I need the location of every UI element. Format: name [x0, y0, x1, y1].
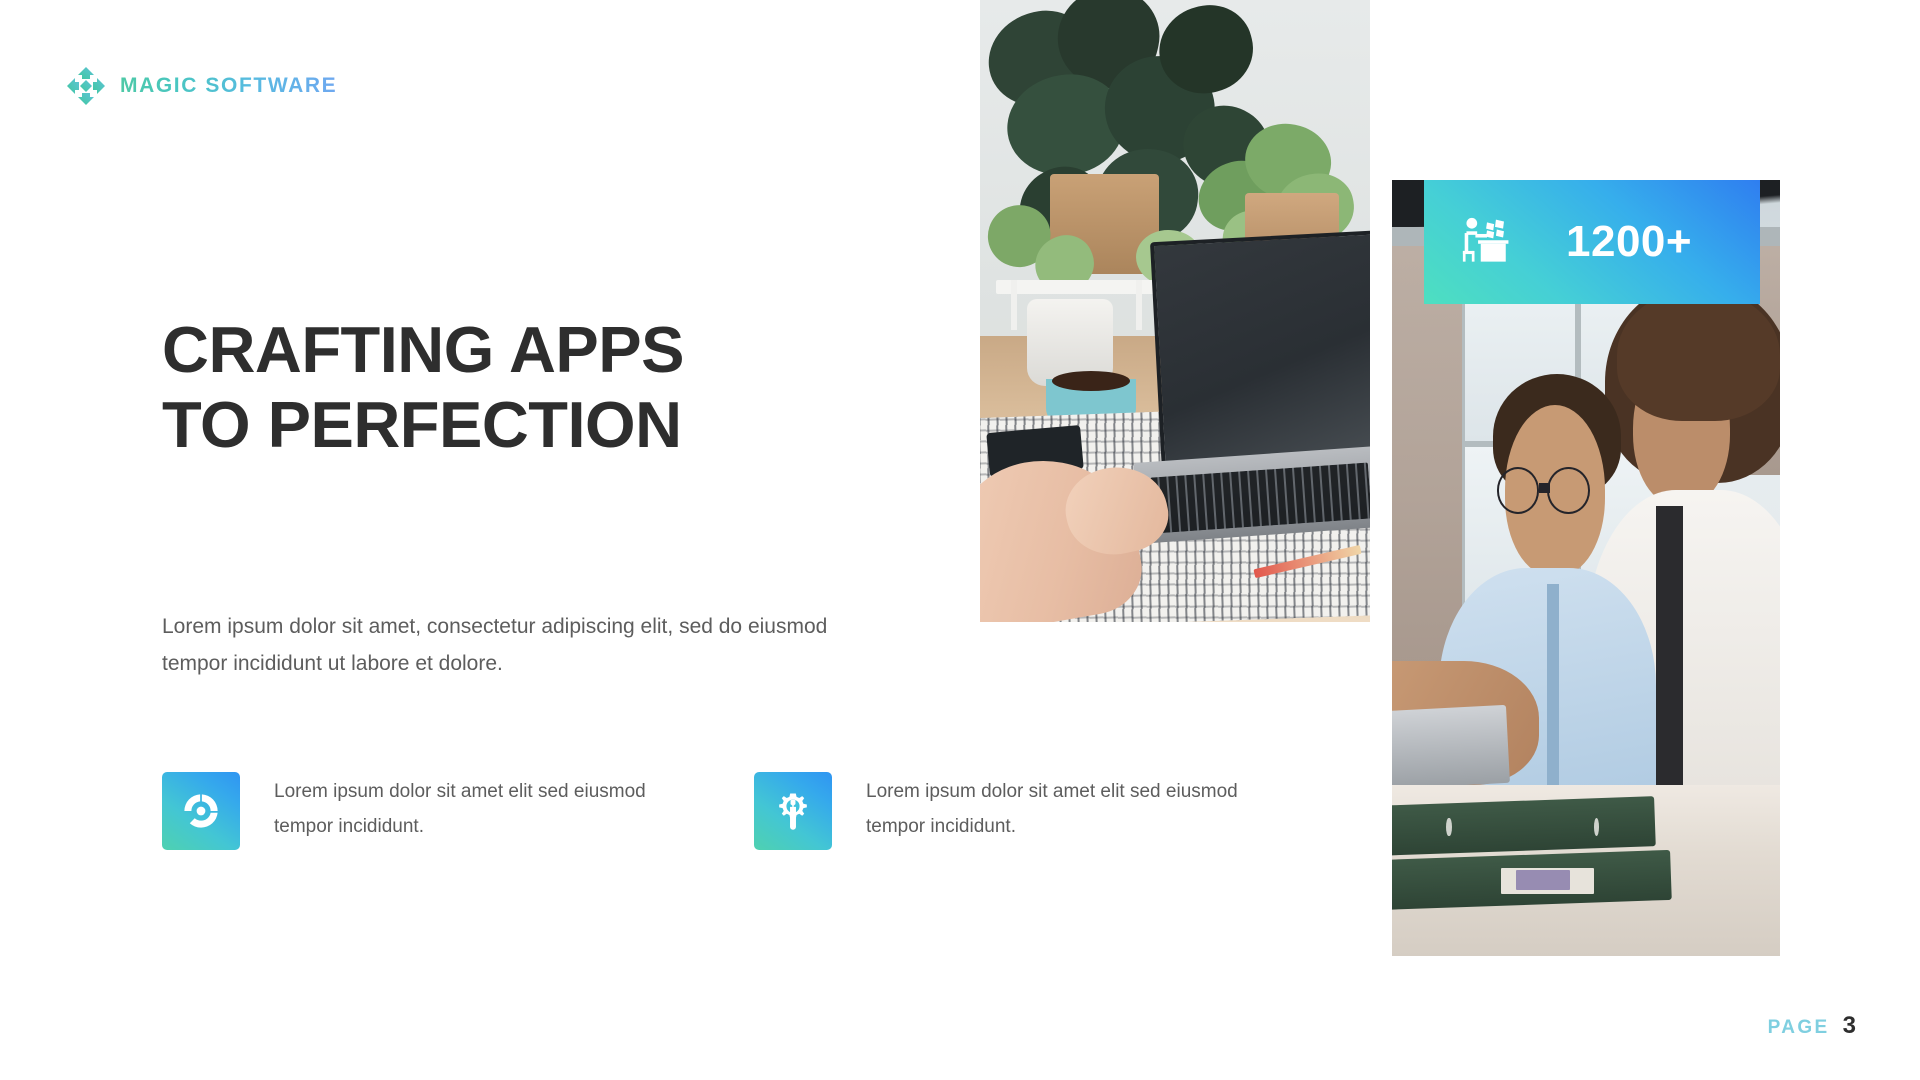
feature-item-1[interactable]: Lorem ipsum dolor sit amet elit sed eius…: [162, 772, 682, 850]
feature-list: Lorem ipsum dolor sit amet elit sed eius…: [162, 772, 1292, 850]
gear-wrench-icon-tile[interactable]: [754, 772, 832, 850]
page-label: PAGE: [1768, 1017, 1830, 1039]
feature-item-1-text: Lorem ipsum dolor sit amet elit sed eius…: [274, 772, 682, 844]
stat-value: 1200+: [1566, 217, 1692, 267]
desk-laptop-plants-photo: [980, 0, 1370, 622]
person-at-desk-icon: [1460, 217, 1514, 267]
page-title-line-1: CRAFTING APPS: [162, 312, 842, 387]
lead-paragraph: Lorem ipsum dolor sit amet, consectetur …: [162, 608, 842, 683]
page-title: CRAFTING APPS TO PERFECTION: [162, 312, 842, 463]
stat-badge: 1200+: [1424, 180, 1760, 304]
gear-wrench-icon: [772, 790, 814, 832]
page-number: 3: [1843, 1012, 1856, 1040]
page-title-line-2: TO PERFECTION: [162, 387, 842, 462]
brand-name: MAGIC SOFTWARE: [120, 74, 337, 98]
pie-chart-icon: [180, 790, 222, 832]
feature-item-2-text: Lorem ipsum dolor sit amet elit sed eius…: [866, 772, 1274, 844]
feature-item-2[interactable]: Lorem ipsum dolor sit amet elit sed eius…: [754, 772, 1274, 850]
pie-chart-icon-tile[interactable]: [162, 772, 240, 850]
page-footer: PAGE 3: [1768, 1012, 1856, 1040]
diamond-cluster-icon: [66, 66, 106, 106]
brand-logo[interactable]: MAGIC SOFTWARE: [66, 66, 337, 106]
